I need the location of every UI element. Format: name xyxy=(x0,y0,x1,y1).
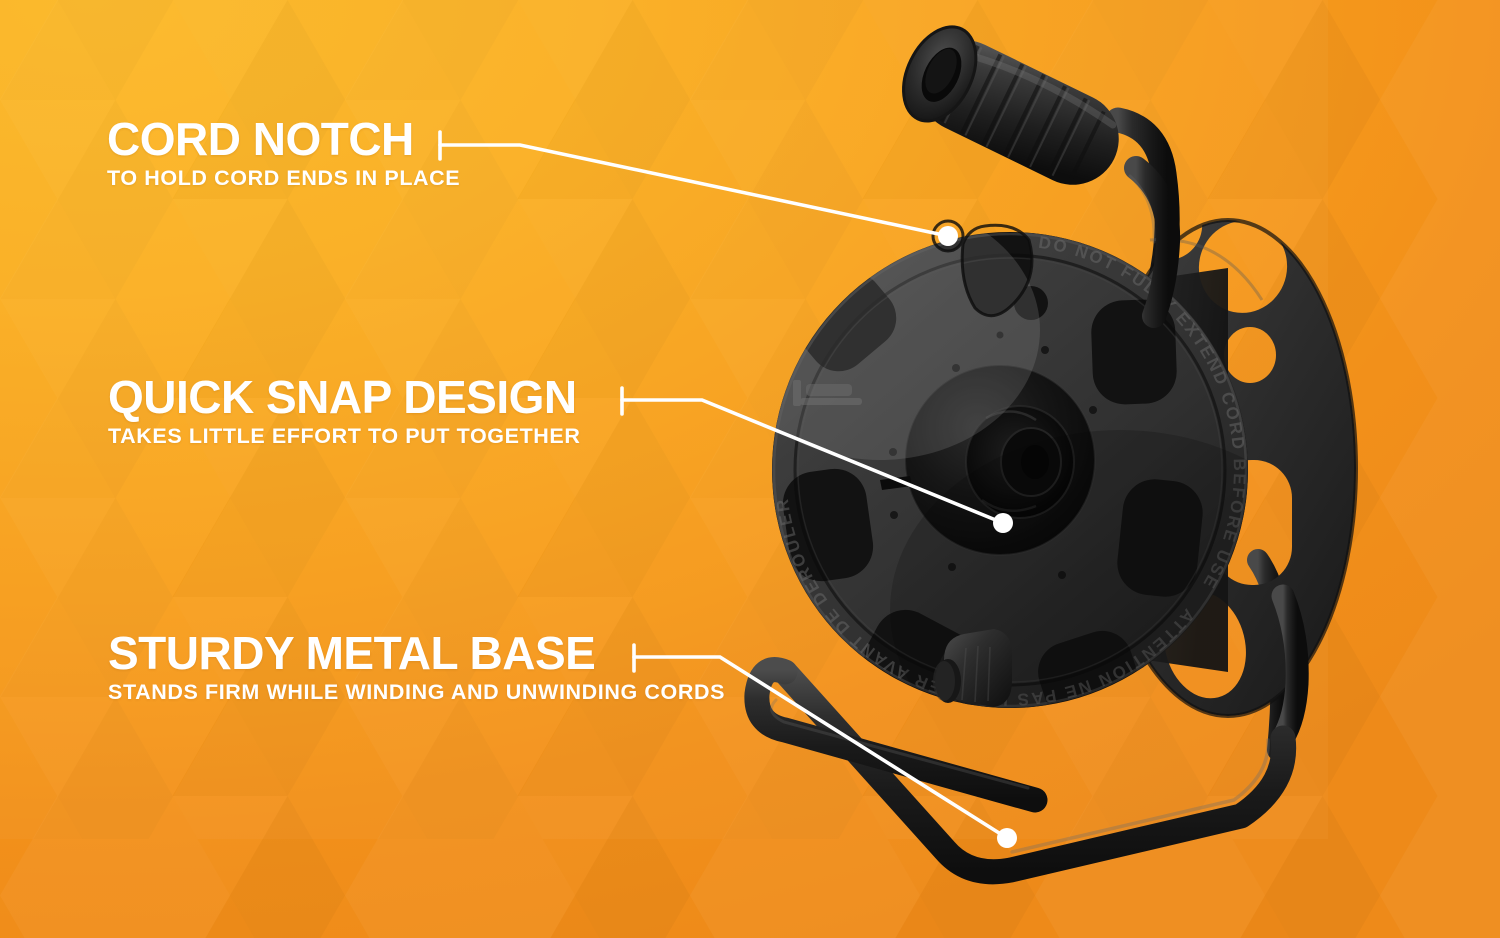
callout-subtitle: STANDS FIRM WHILE WINDING AND UNWINDING … xyxy=(108,680,725,704)
callout-subtitle: TO HOLD CORD ENDS IN PLACE xyxy=(107,166,460,190)
callout-title: STURDY METAL BASE xyxy=(108,630,725,676)
callout-title: QUICK SNAP DESIGN xyxy=(108,374,581,420)
rubber-handle-grip xyxy=(889,15,1136,204)
callout-cord-notch: CORD NOTCH TO HOLD CORD ENDS IN PLACE xyxy=(107,116,460,190)
callout-title: CORD NOTCH xyxy=(107,116,460,162)
callout-subtitle: TAKES LITTLE EFFORT TO PUT TOGETHER xyxy=(108,424,581,448)
callout-quick-snap-design: QUICK SNAP DESIGN TAKES LITTLE EFFORT TO… xyxy=(108,374,581,448)
infographic-canvas: DO NOT FULLY EXTEND CORD BEFORE USE ATTE… xyxy=(0,0,1500,938)
callout-sturdy-metal-base: STURDY METAL BASE STANDS FIRM WHILE WIND… xyxy=(108,630,725,704)
